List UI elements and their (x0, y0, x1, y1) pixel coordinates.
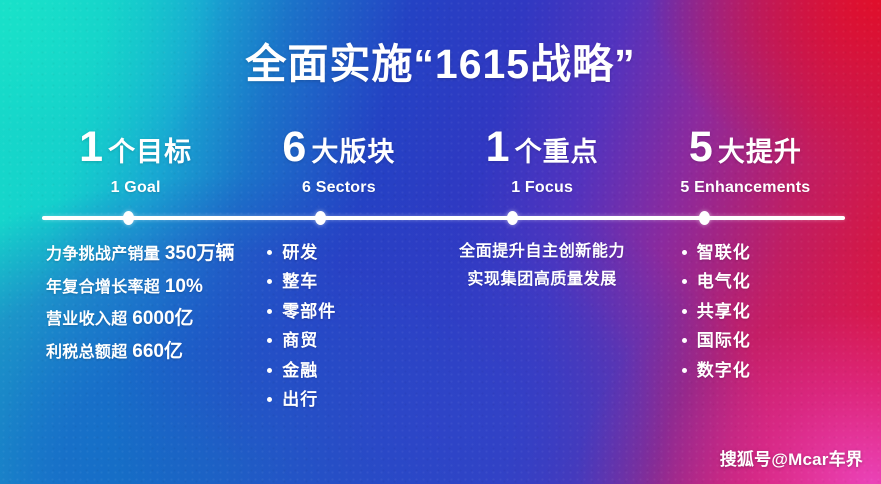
goal-stat-list: 力争挑战产销量 350万辆 年复合增长率超 10% 营业收入超 6000亿 利税… (34, 238, 237, 369)
header-number-enhancements: 5 (689, 126, 712, 169)
header-number-focus: 1 (486, 126, 509, 169)
list-item: 出行 (267, 385, 440, 414)
header-en-label-enhancements: 5 Enhancements (644, 179, 847, 197)
divider-node-4 (699, 211, 710, 225)
goal-stat-value: 350万辆 (165, 243, 235, 264)
goal-stat-row: 力争挑战产销量 350万辆 (46, 238, 237, 271)
header-cn-label-enhancements: 大提升 (718, 139, 802, 166)
poster-content: 全面实施“1615战略” 1 个目标 1 Goal 6 大版块 6 Sector… (0, 0, 881, 484)
list-item: 整车 (267, 267, 440, 296)
header-en-label-focus: 1 Focus (441, 179, 644, 197)
goal-stat-value: 6000亿 (132, 308, 193, 329)
list-item: 金融 (267, 356, 440, 385)
goal-stat-row: 营业收入超 6000亿 (46, 303, 237, 336)
list-item: 数字化 (682, 356, 847, 385)
goal-stat-row: 利税总额超 660亿 (46, 336, 237, 369)
watermark-label: 搜狐号@Mcar车界 (720, 445, 863, 470)
focus-line: 实现集团高质量发展 (441, 266, 644, 294)
goal-stat-prefix: 年复合增长率超 (46, 279, 165, 296)
focus-line: 全面提升自主创新能力 (441, 238, 644, 266)
goal-stat-prefix: 利税总额超 (46, 344, 132, 361)
poster-canvas: 全面实施“1615战略” 1 个目标 1 Goal 6 大版块 6 Sector… (0, 0, 881, 484)
list-item: 商贸 (267, 326, 440, 355)
column-body-enhancements: 智联化 电气化 共享化 国际化 数字化 (644, 238, 847, 385)
column-bodies-row: 力争挑战产销量 350万辆 年复合增长率超 10% 营业收入超 6000亿 利税… (34, 238, 847, 414)
header-main-sectors: 6 大版块 (237, 126, 440, 169)
poster-title: 全面实施“1615战略” (0, 40, 881, 89)
column-header-enhancements: 5 大提升 5 Enhancements (644, 126, 847, 197)
column-header-focus: 1 个重点 1 Focus (441, 126, 644, 197)
goal-stat-value: 660亿 (132, 341, 183, 362)
goal-stat-prefix: 力争挑战产销量 (46, 246, 165, 263)
column-header-sectors: 6 大版块 6 Sectors (237, 126, 440, 197)
header-main-goal: 1 个目标 (34, 126, 237, 169)
column-body-focus: 全面提升自主创新能力 实现集团高质量发展 (441, 238, 644, 295)
goal-stat-row: 年复合增长率超 10% (46, 271, 237, 304)
list-item: 电气化 (682, 267, 847, 296)
list-item: 研发 (267, 238, 440, 267)
enhancement-bullet-list: 智联化 电气化 共享化 国际化 数字化 (644, 238, 847, 385)
timeline-divider (42, 216, 845, 220)
sector-bullet-list: 研发 整车 零部件 商贸 金融 出行 (237, 238, 440, 414)
header-en-label-goal: 1 Goal (34, 179, 237, 197)
column-body-goal: 力争挑战产销量 350万辆 年复合增长率超 10% 营业收入超 6000亿 利税… (34, 238, 237, 369)
header-number-goal: 1 (79, 126, 102, 169)
header-cn-label-focus: 个重点 (515, 139, 599, 166)
header-cn-label-goal: 个目标 (108, 139, 192, 166)
header-main-focus: 1 个重点 (441, 126, 644, 169)
list-item: 共享化 (682, 297, 847, 326)
header-cn-label-sectors: 大版块 (311, 139, 395, 166)
list-item: 国际化 (682, 326, 847, 355)
goal-stat-prefix: 营业收入超 (46, 311, 132, 328)
header-main-enhancements: 5 大提升 (644, 126, 847, 169)
goal-stat-value: 10% (165, 276, 203, 297)
divider-node-3 (507, 211, 518, 225)
divider-node-2 (315, 211, 326, 225)
column-body-sectors: 研发 整车 零部件 商贸 金融 出行 (237, 238, 440, 414)
header-en-label-sectors: 6 Sectors (237, 179, 440, 197)
column-header-goal: 1 个目标 1 Goal (34, 126, 237, 197)
column-headers-row: 1 个目标 1 Goal 6 大版块 6 Sectors 1 个重点 1 Foc… (34, 126, 847, 197)
list-item: 零部件 (267, 297, 440, 326)
divider-node-1 (123, 211, 134, 225)
list-item: 智联化 (682, 238, 847, 267)
header-number-sectors: 6 (282, 126, 305, 169)
